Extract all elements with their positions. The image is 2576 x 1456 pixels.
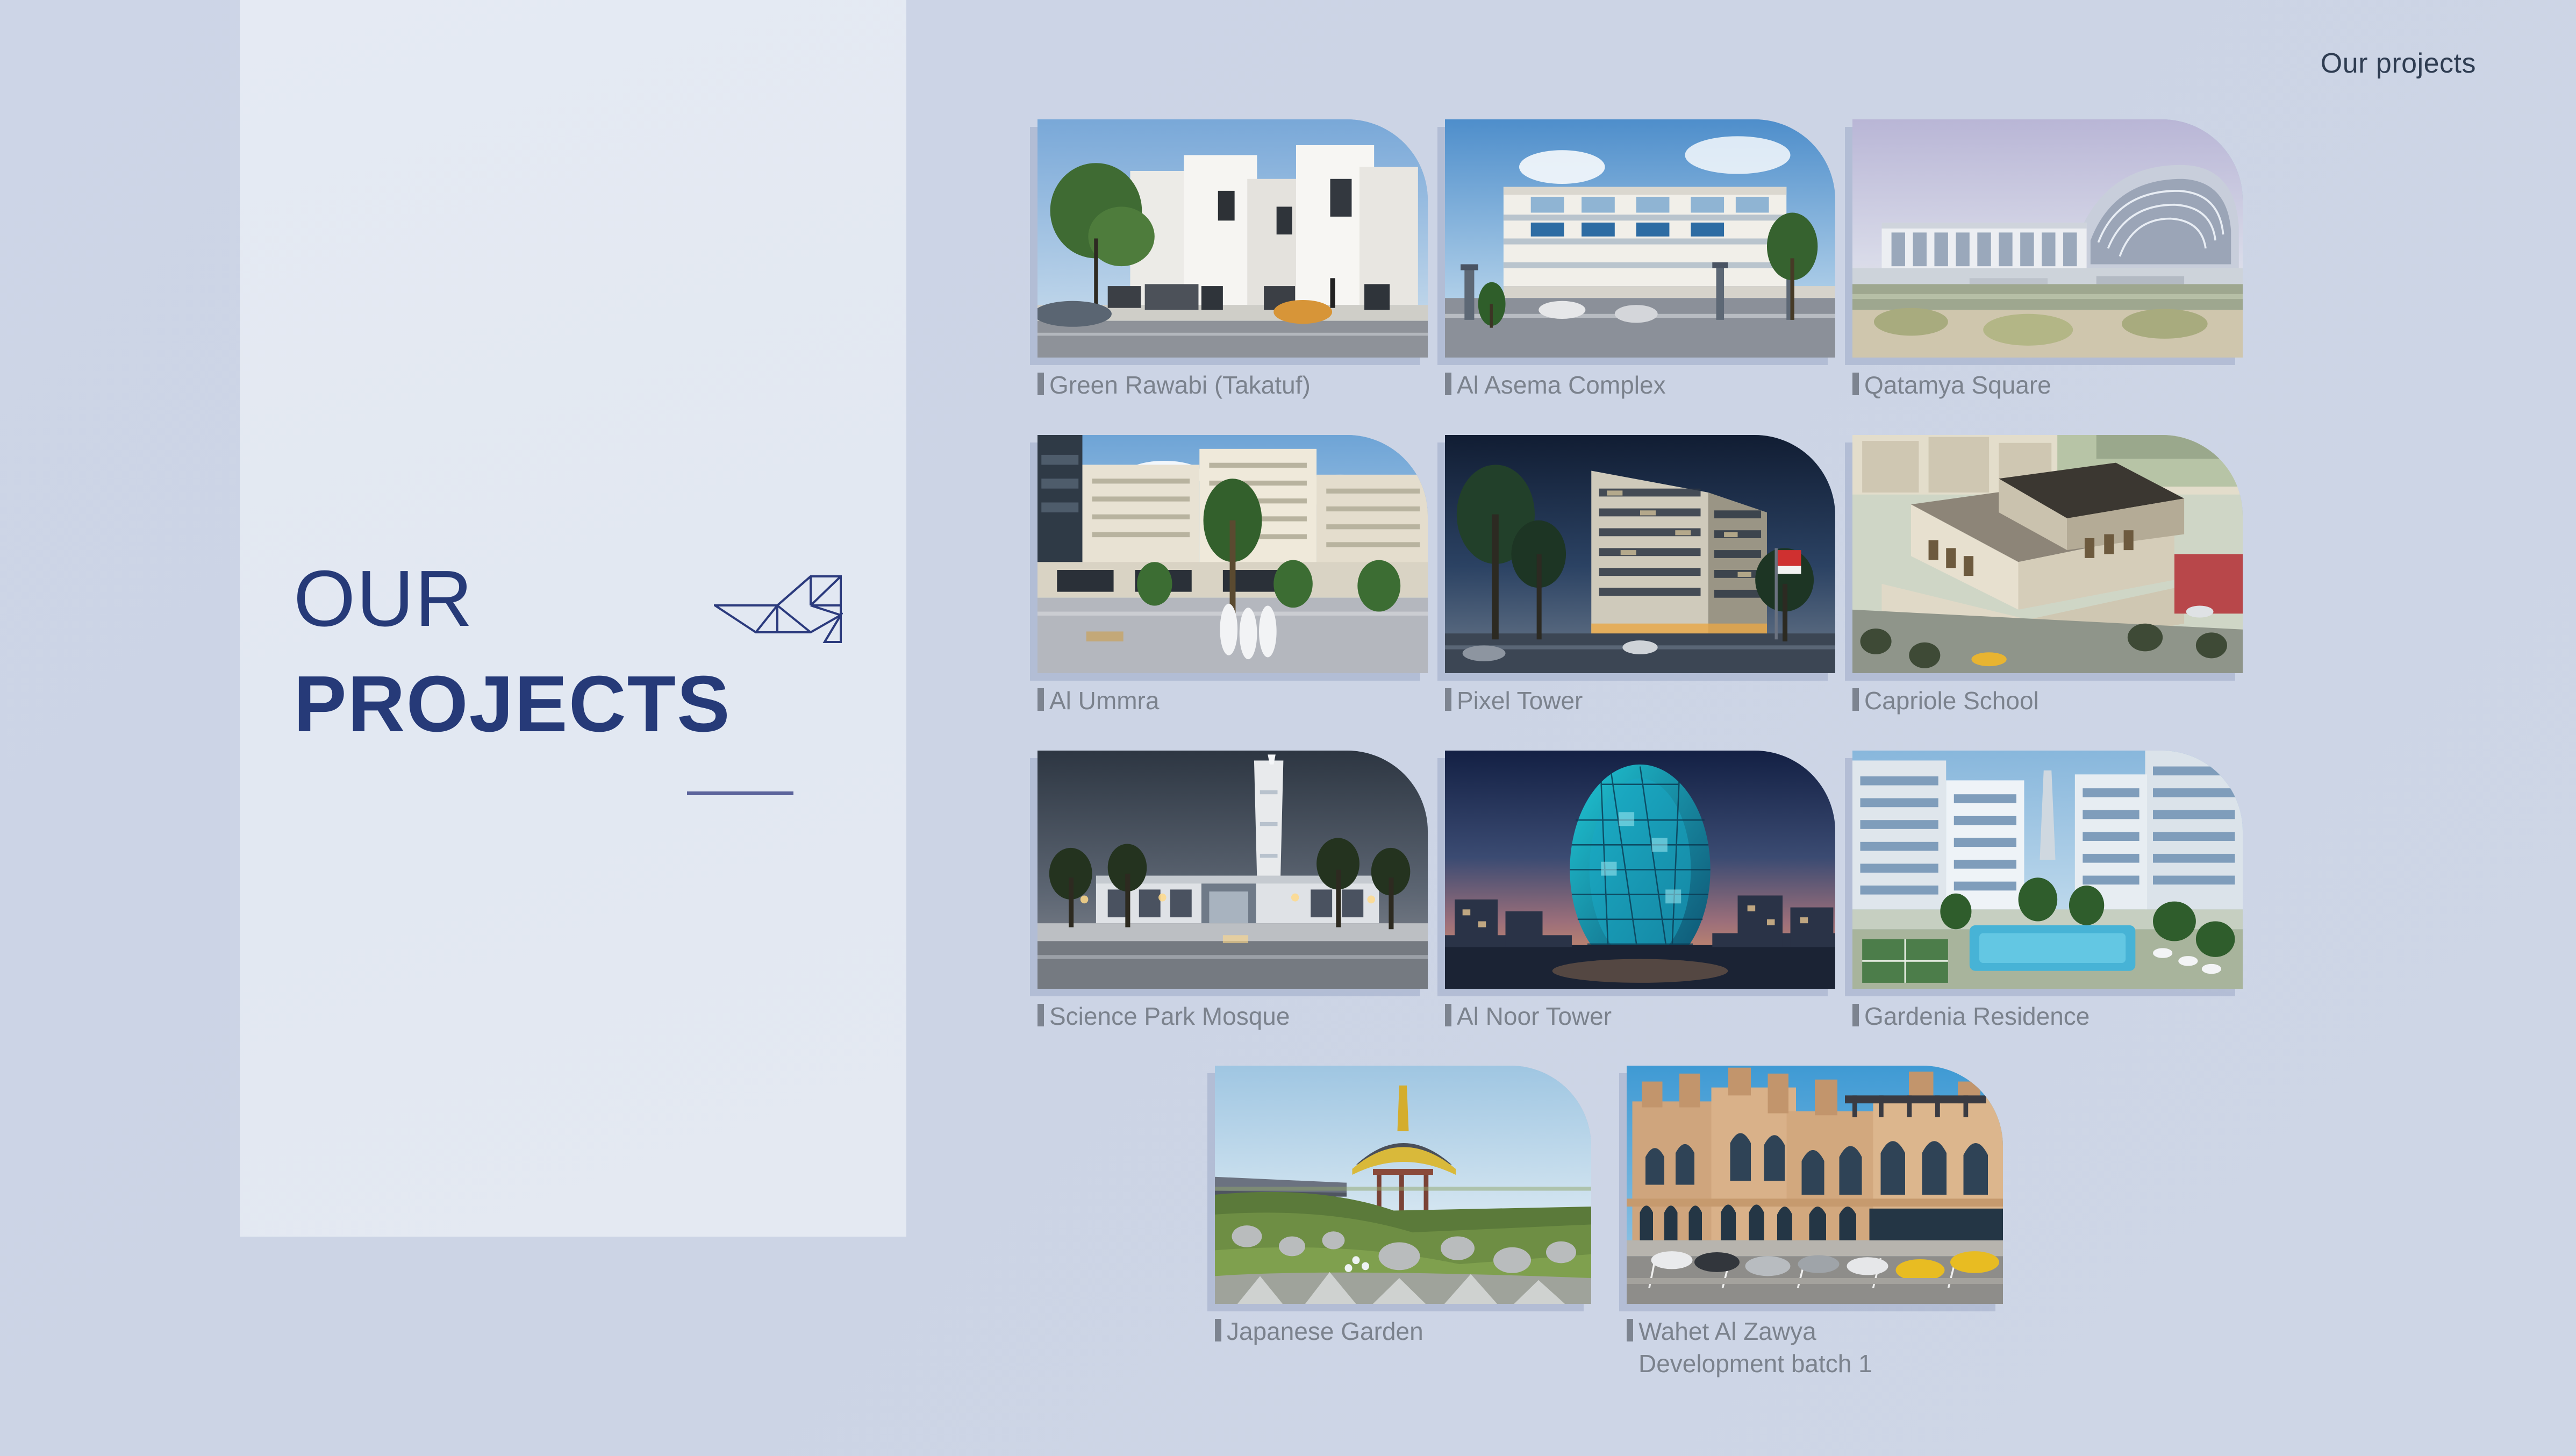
thumbnail-wrapper (1627, 1066, 2003, 1304)
project-image-al-noor-tower[interactable] (1445, 751, 1835, 989)
project-caption: Japanese Garden (1215, 1316, 1591, 1348)
project-label: Al Ummra (1049, 685, 1159, 717)
thumbnail-wrapper (1852, 435, 2243, 673)
project-label: Science Park Mosque (1049, 1001, 1290, 1033)
caption-bar-icon (1445, 688, 1451, 711)
caption-bar-icon (1852, 373, 1859, 395)
project-image-qatamya-square[interactable] (1852, 119, 2243, 358)
projects-grid: Green Rawabi (Takatuf) (1037, 119, 2269, 1414)
origami-a-logo-icon (714, 574, 843, 644)
title-block: OUR PROJECTS (294, 559, 863, 744)
project-card-gardenia-residence[interactable]: Gardenia Residence (1852, 751, 2243, 1033)
project-caption: Al Ummra (1037, 685, 1428, 717)
project-label: Al Noor Tower (1457, 1001, 1612, 1033)
caption-bar-icon (1037, 688, 1044, 711)
project-caption: Pixel Tower (1445, 685, 1835, 717)
caption-bar-icon (1627, 1319, 1633, 1341)
thumbnail-wrapper (1215, 1066, 1591, 1304)
title-underline (687, 791, 793, 795)
project-card-wahet-al-zawya[interactable]: Wahet Al Zawya Development batch 1 (1627, 1066, 2003, 1380)
project-caption: Al Asema Complex (1445, 369, 1835, 402)
project-image-pixel-tower[interactable] (1445, 435, 1835, 673)
project-label: Gardenia Residence (1864, 1001, 2090, 1033)
project-image-green-rawabi-villas[interactable] (1037, 119, 1428, 358)
caption-bar-icon (1445, 1004, 1451, 1026)
caption-bar-icon (1852, 1004, 1859, 1026)
project-card-green-rawabi[interactable]: Green Rawabi (Takatuf) (1037, 119, 1428, 402)
project-image-science-park-mosque[interactable] (1037, 751, 1428, 989)
caption-bar-icon (1037, 373, 1044, 395)
project-card-capriole-school[interactable]: Capriole School (1852, 435, 2243, 717)
project-caption: Gardenia Residence (1852, 1001, 2243, 1033)
page-header-title: Our projects (2321, 47, 2476, 80)
thumbnail-wrapper (1445, 751, 1835, 989)
project-caption: Qatamya Square (1852, 369, 2243, 402)
project-card-al-noor-tower[interactable]: Al Noor Tower (1445, 751, 1835, 1033)
project-label: Japanese Garden (1227, 1316, 1423, 1348)
project-card-japanese-garden[interactable]: Japanese Garden (1215, 1066, 1591, 1380)
project-image-wahet-al-zawya[interactable] (1627, 1066, 2003, 1304)
project-label: Wahet Al Zawya Development batch 1 (1638, 1316, 1872, 1380)
project-caption: Al Noor Tower (1445, 1001, 1835, 1033)
project-image-japanese-garden[interactable] (1215, 1066, 1591, 1304)
project-image-capriole-school[interactable] (1852, 435, 2243, 673)
project-card-al-ummra[interactable]: Al Ummra (1037, 435, 1428, 717)
thumbnail-wrapper (1445, 119, 1835, 358)
project-label: Green Rawabi (Takatuf) (1049, 369, 1311, 402)
thumbnail-wrapper (1852, 751, 2243, 989)
project-label: Pixel Tower (1457, 685, 1583, 717)
project-image-gardenia-residence[interactable] (1852, 751, 2243, 989)
thumbnail-wrapper (1445, 435, 1835, 673)
caption-bar-icon (1037, 1004, 1044, 1026)
project-label: Al Asema Complex (1457, 369, 1666, 402)
page-title-line-2: PROJECTS (294, 665, 863, 744)
thumbnail-wrapper (1852, 119, 2243, 358)
project-card-pixel-tower[interactable]: Pixel Tower (1445, 435, 1835, 717)
caption-bar-icon (1215, 1319, 1221, 1341)
projects-row-2: Al Ummra (1037, 435, 2269, 717)
project-image-al-ummra-plaza[interactable] (1037, 435, 1428, 673)
thumbnail-wrapper (1037, 751, 1428, 989)
project-caption: Capriole School (1852, 685, 2243, 717)
project-card-qatamya-square[interactable]: Qatamya Square (1852, 119, 2243, 402)
project-card-science-park-mosque[interactable]: Science Park Mosque (1037, 751, 1428, 1033)
project-caption: Green Rawabi (Takatuf) (1037, 369, 1428, 402)
caption-bar-icon (1445, 373, 1451, 395)
projects-row-1: Green Rawabi (Takatuf) (1037, 119, 2269, 402)
project-caption: Wahet Al Zawya Development batch 1 (1627, 1316, 2003, 1380)
caption-bar-icon (1852, 688, 1859, 711)
project-caption: Science Park Mosque (1037, 1001, 1428, 1033)
project-label: Qatamya Square (1864, 369, 2051, 402)
project-card-al-asema-complex[interactable]: Al Asema Complex (1445, 119, 1835, 402)
projects-row-4: Japanese Garden (1215, 1066, 2269, 1380)
project-image-al-asema-complex[interactable] (1445, 119, 1835, 358)
left-title-panel: OUR PROJECTS (240, 0, 906, 1237)
project-label: Capriole School (1864, 685, 2039, 717)
thumbnail-wrapper (1037, 435, 1428, 673)
projects-row-3: Science Park Mosque (1037, 751, 2269, 1033)
thumbnail-wrapper (1037, 119, 1428, 358)
